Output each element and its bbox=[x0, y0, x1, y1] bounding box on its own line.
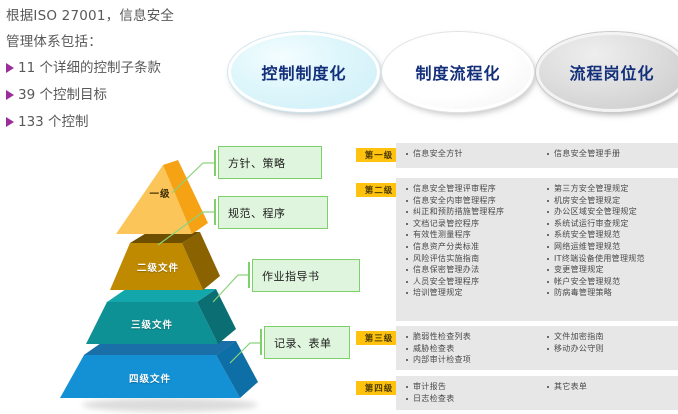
list-item-label: 培训管理规定 bbox=[413, 287, 463, 299]
pyramid-tier-2-label: 二级文件 bbox=[118, 260, 198, 274]
callout-1-label: 方针、策略 bbox=[228, 155, 286, 171]
list-item-label: 系统安全管理规范 bbox=[554, 229, 620, 241]
list-item-label: 威胁检查表 bbox=[413, 343, 455, 355]
callout-policy-strategy: 方针、策略 bbox=[218, 146, 322, 179]
callout-work-instruction: 作业指导书 bbox=[252, 259, 360, 292]
intro-bullet-2: 39 个控制目标 bbox=[6, 85, 221, 105]
intro-line-2: 管理体系包括： bbox=[6, 32, 221, 52]
level-1-right-column: 信息安全管理手册 bbox=[537, 148, 678, 163]
list-item-label: 文件加密指南 bbox=[554, 331, 604, 343]
square-bullet-icon bbox=[406, 269, 408, 271]
list-item: 系统安全管理规范 bbox=[547, 229, 678, 241]
list-item: 信息安全方针 bbox=[406, 148, 537, 160]
square-bullet-icon bbox=[406, 211, 408, 213]
callout-3-label: 作业指导书 bbox=[262, 268, 320, 284]
list-item-label: 信息资产分类标准 bbox=[413, 241, 479, 253]
list-item-label: 风险评估实施指南 bbox=[413, 253, 479, 265]
level-badge-3-label: 第三级 bbox=[365, 332, 394, 344]
square-bullet-icon bbox=[547, 281, 549, 283]
square-bullet-icon bbox=[547, 292, 549, 294]
square-bullet-icon bbox=[547, 223, 549, 225]
list-item-label: 其它表单 bbox=[554, 381, 587, 393]
level-badge-4-label: 第四级 bbox=[365, 382, 394, 394]
square-bullet-icon bbox=[547, 258, 549, 260]
square-bullet-icon bbox=[406, 234, 408, 236]
square-bullet-icon bbox=[406, 348, 408, 350]
square-bullet-icon bbox=[547, 246, 549, 248]
square-bullet-icon bbox=[406, 223, 408, 225]
list-item: 第三方安全管理规定 bbox=[547, 183, 678, 195]
list-item: 威胁检查表 bbox=[406, 343, 537, 355]
oval-1-label: 控制制度化 bbox=[261, 60, 346, 84]
list-item-label: 防病毒管理策略 bbox=[554, 287, 612, 299]
list-item-label: 网络运维管理规范 bbox=[554, 241, 620, 253]
callout-4-label: 记录、表单 bbox=[274, 335, 332, 351]
triangle-bullet-icon bbox=[6, 90, 14, 100]
list-item-label: 内部审计检查项 bbox=[413, 354, 471, 366]
list-item: 变更管理规定 bbox=[547, 264, 678, 276]
square-bullet-icon bbox=[547, 269, 549, 271]
square-bullet-icon bbox=[547, 336, 549, 338]
level-badge-2-label: 第二级 bbox=[365, 184, 394, 196]
square-bullet-icon bbox=[547, 188, 549, 190]
list-item: 审计报告 bbox=[406, 381, 537, 393]
callout-3-tick bbox=[248, 262, 250, 288]
list-item-label: 脆弱性检查列表 bbox=[413, 331, 471, 343]
square-bullet-icon bbox=[406, 281, 408, 283]
callout-2-tick bbox=[214, 199, 216, 225]
list-item-label: 文档记录管控程序 bbox=[413, 218, 479, 230]
list-item-label: 机房安全管理规定 bbox=[554, 195, 620, 207]
list-item-label: 信息安全方针 bbox=[413, 148, 463, 160]
oval-2-label: 制度流程化 bbox=[415, 60, 500, 84]
list-item: 防病毒管理策略 bbox=[547, 287, 678, 299]
list-item: 信息安全管理手册 bbox=[547, 148, 678, 160]
list-item: 内部审计检查项 bbox=[406, 354, 537, 366]
list-item: 系统试运行审查规定 bbox=[547, 218, 678, 230]
oval-control-systemization: 控制制度化 bbox=[228, 32, 380, 112]
square-bullet-icon bbox=[406, 398, 408, 400]
intro-bullet-3: 133 个控制 bbox=[6, 112, 221, 132]
list-item: IT终端设备使用管理规范 bbox=[547, 253, 678, 265]
list-item-label: 日志检查表 bbox=[413, 393, 455, 405]
callout-record-form: 记录、表单 bbox=[264, 326, 350, 359]
list-item-label: 信息安全管理评审程序 bbox=[413, 183, 496, 195]
list-item: 办公区域安全管理规定 bbox=[547, 206, 678, 218]
level-panel-2: 信息安全管理评审程序 信息安全内审管理程序 纠正和预防措施管理程序 文档记录管控… bbox=[396, 178, 678, 321]
square-bullet-icon bbox=[406, 246, 408, 248]
square-bullet-icon bbox=[406, 359, 408, 361]
square-bullet-icon bbox=[406, 292, 408, 294]
oval-process-rolization: 流程岗位化 bbox=[536, 32, 678, 112]
square-bullet-icon bbox=[547, 386, 549, 388]
list-item-label: 变更管理规定 bbox=[554, 264, 604, 276]
level-4-right-column: 其它表单 bbox=[537, 381, 678, 405]
intro-line-1: 根据ISO 27001，信息安全 bbox=[6, 6, 221, 26]
square-bullet-icon bbox=[406, 153, 408, 155]
level-3-right-column: 文件加密指南 移动办公守则 bbox=[537, 331, 678, 365]
level-panel-3: 脆弱性检查列表 威胁检查表 内部审计检查项 文件加密指南 移动办公守则 bbox=[396, 326, 678, 370]
level-panel-1: 信息安全方针 信息安全管理手册 bbox=[396, 143, 678, 168]
list-item-label: IT终端设备使用管理规范 bbox=[554, 253, 645, 265]
list-item-label: 系统试运行审查规定 bbox=[554, 218, 629, 230]
intro-block: 根据ISO 27001，信息安全 管理体系包括： 11 个详细的控制子条款 39… bbox=[6, 6, 221, 139]
intro-bullet-1-label: 11 个详细的控制子条款 bbox=[18, 58, 161, 78]
square-bullet-icon bbox=[547, 200, 549, 202]
oval-3-label: 流程岗位化 bbox=[569, 60, 654, 84]
level-2-right-column: 第三方安全管理规定 机房安全管理规定 办公区域安全管理规定 系统试运行审查规定 … bbox=[537, 183, 678, 316]
list-item: 信息安全管理评审程序 bbox=[406, 183, 537, 195]
square-bullet-icon bbox=[547, 153, 549, 155]
list-item: 脆弱性检查列表 bbox=[406, 331, 537, 343]
list-item-label: 人员安全管理程序 bbox=[413, 276, 479, 288]
document-hierarchy-pyramid: 一级 二级文件 三级文件 四级文件 bbox=[40, 150, 280, 414]
level-panel-4: 审计报告 日志检查表 其它表单 bbox=[396, 376, 678, 410]
callout-4-tick bbox=[260, 329, 262, 355]
list-item: 培训管理规定 bbox=[406, 287, 537, 299]
pyramid-tier-1-label: 一级 bbox=[136, 186, 184, 200]
list-item: 文档记录管控程序 bbox=[406, 218, 537, 230]
list-item-label: 信息安全管理手册 bbox=[554, 148, 620, 160]
intro-bullet-1: 11 个详细的控制子条款 bbox=[6, 58, 221, 78]
list-item-label: 信息保密管理办法 bbox=[413, 264, 479, 276]
square-bullet-icon bbox=[547, 211, 549, 213]
pyramid-tier-3-label: 三级文件 bbox=[112, 317, 192, 331]
triangle-bullet-icon bbox=[6, 63, 14, 73]
square-bullet-icon bbox=[406, 200, 408, 202]
list-item-label: 办公区域安全管理规定 bbox=[554, 206, 637, 218]
list-item: 网络运维管理规范 bbox=[547, 241, 678, 253]
slide-canvas: 根据ISO 27001，信息安全 管理体系包括： 11 个详细的控制子条款 39… bbox=[0, 0, 678, 414]
square-bullet-icon bbox=[547, 234, 549, 236]
level-4-left-column: 审计报告 日志检查表 bbox=[396, 381, 537, 405]
list-item-label: 第三方安全管理规定 bbox=[554, 183, 629, 195]
list-item: 信息安全内审管理程序 bbox=[406, 195, 537, 207]
list-item: 机房安全管理规定 bbox=[547, 195, 678, 207]
level-1-left-column: 信息安全方针 bbox=[396, 148, 537, 163]
list-item-label: 信息安全内审管理程序 bbox=[413, 195, 496, 207]
callout-2-label: 规范、程序 bbox=[228, 205, 286, 221]
list-item-label: 纠正和预防措施管理程序 bbox=[413, 206, 504, 218]
triangle-bullet-icon bbox=[6, 117, 14, 127]
intro-bullet-2-label: 39 个控制目标 bbox=[18, 85, 107, 105]
list-item: 纠正和预防措施管理程序 bbox=[406, 206, 537, 218]
intro-bullet-3-label: 133 个控制 bbox=[18, 112, 89, 132]
list-item-label: 有效性测量程序 bbox=[413, 229, 471, 241]
list-item-label: 审计报告 bbox=[413, 381, 446, 393]
square-bullet-icon bbox=[547, 348, 549, 350]
list-item: 帐户安全管理规范 bbox=[547, 276, 678, 288]
list-item: 信息保密管理办法 bbox=[406, 264, 537, 276]
list-item: 信息资产分类标准 bbox=[406, 241, 537, 253]
list-item: 日志检查表 bbox=[406, 393, 537, 405]
level-3-left-column: 脆弱性检查列表 威胁检查表 内部审计检查项 bbox=[396, 331, 537, 365]
list-item-label: 移动办公守则 bbox=[554, 343, 604, 355]
square-bullet-icon bbox=[406, 386, 408, 388]
square-bullet-icon bbox=[406, 258, 408, 260]
list-item-label: 帐户安全管理规范 bbox=[554, 276, 620, 288]
level-badge-1-label: 第一级 bbox=[365, 149, 394, 161]
list-item: 风险评估实施指南 bbox=[406, 253, 537, 265]
pyramid-tier-4-label: 四级文件 bbox=[110, 371, 190, 385]
list-item: 文件加密指南 bbox=[547, 331, 678, 343]
callout-standard-procedure: 规范、程序 bbox=[218, 196, 328, 229]
list-item: 有效性测量程序 bbox=[406, 229, 537, 241]
list-item: 移动办公守则 bbox=[547, 343, 678, 355]
level-2-left-column: 信息安全管理评审程序 信息安全内审管理程序 纠正和预防措施管理程序 文档记录管控… bbox=[396, 183, 537, 316]
square-bullet-icon bbox=[406, 188, 408, 190]
list-item: 其它表单 bbox=[547, 381, 678, 393]
list-item: 人员安全管理程序 bbox=[406, 276, 537, 288]
square-bullet-icon bbox=[406, 336, 408, 338]
callout-1-tick bbox=[214, 150, 216, 176]
oval-system-processization: 制度流程化 bbox=[382, 32, 534, 112]
